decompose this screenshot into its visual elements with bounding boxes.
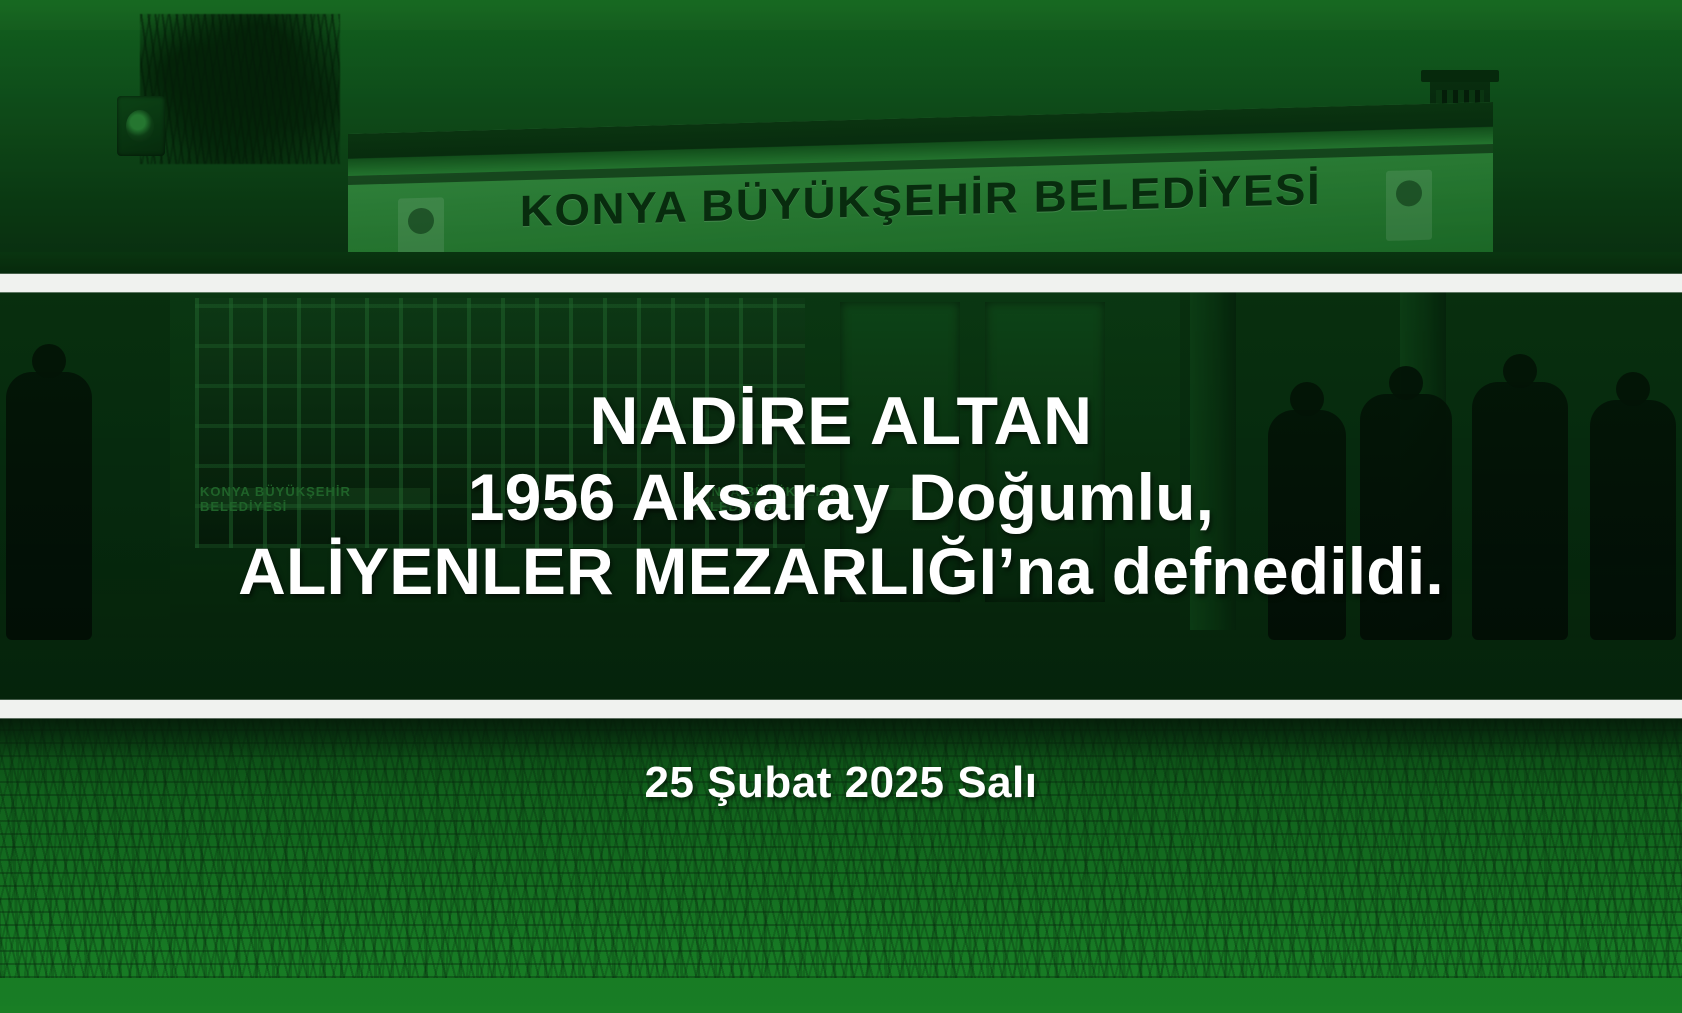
loudspeaker-icon — [117, 96, 165, 156]
background-photo: KONYA BÜYÜKŞEHİR BELEDİYESİ KONYA BÜYÜKŞ… — [0, 0, 1682, 1013]
mourner-silhouette — [1360, 394, 1452, 640]
facade-sign-text-2: KONYA BÜYÜKŞEHİR BELEDİYESİ — [690, 488, 920, 510]
mourner-silhouette — [1472, 382, 1568, 640]
mourner-silhouette — [1268, 410, 1346, 640]
mourner-silhouette — [6, 372, 92, 640]
bush-foliage — [140, 14, 340, 164]
mosque-door — [840, 302, 960, 602]
divider-bar-bottom — [0, 700, 1682, 718]
facade-sign-text: KONYA BÜYÜKŞEHİR BELEDİYESİ — [200, 488, 430, 510]
mourner-silhouette — [1590, 400, 1676, 640]
photo-band-middle: KONYA BÜYÜKŞEHİR BELEDİYESİ KONYA BÜYÜKŞ… — [0, 290, 1682, 702]
photo-band-top: KONYA BÜYÜKŞEHİR BELEDİYESİ — [0, 0, 1682, 276]
facade-pillar — [1190, 290, 1236, 630]
carpet-shadow — [0, 716, 1682, 760]
mosque-door — [985, 302, 1105, 602]
memorial-announcement-graphic: KONYA BÜYÜKŞEHİR BELEDİYESİ KONYA BÜYÜKŞ… — [0, 0, 1682, 1013]
announcement-date: 25 Şubat 2025 Salı — [0, 758, 1682, 808]
divider-bar-top — [0, 274, 1682, 292]
courtyard-floor — [0, 252, 1682, 276]
